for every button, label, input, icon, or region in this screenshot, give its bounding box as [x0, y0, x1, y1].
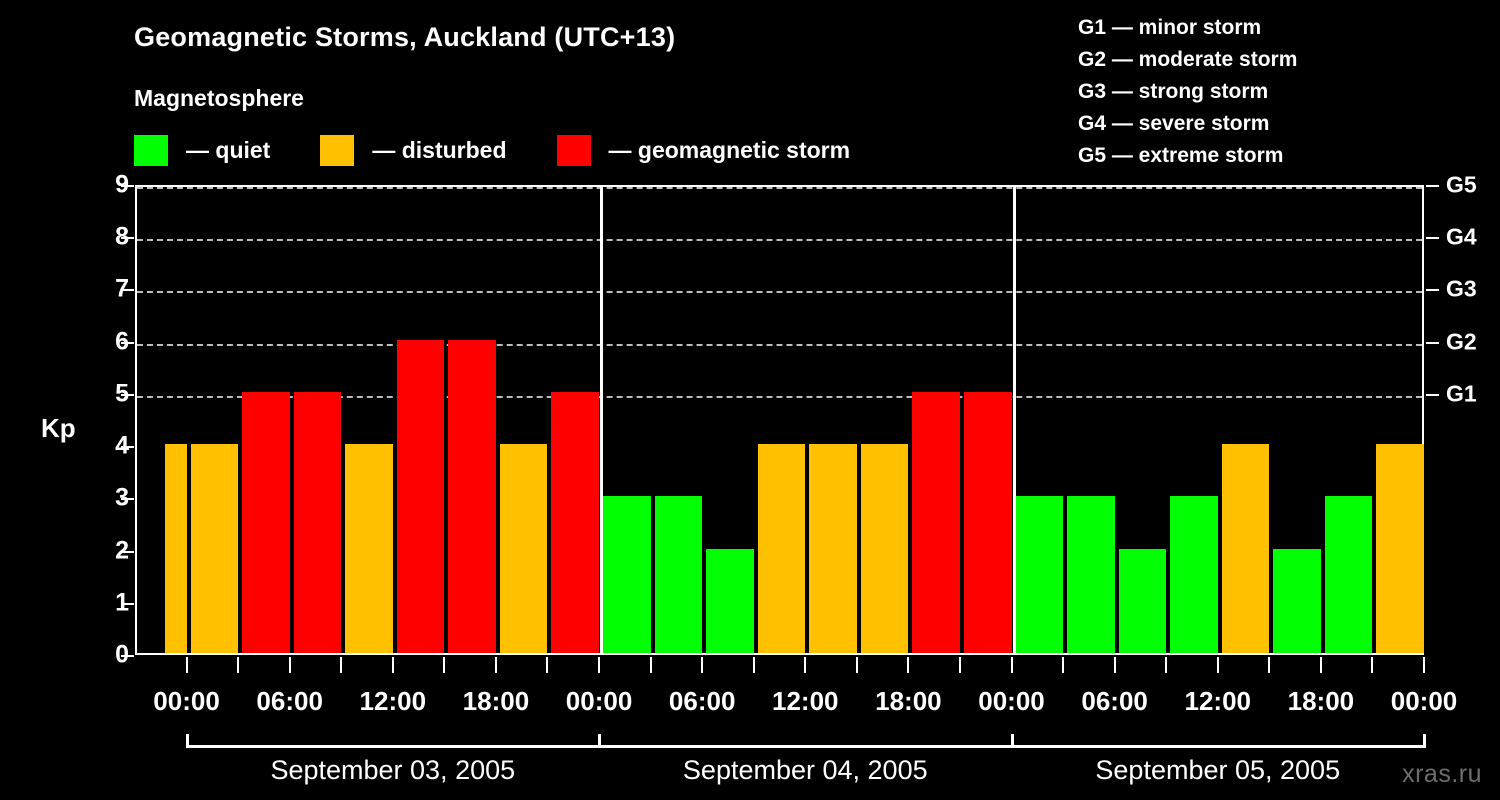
- x-axis-tick: [907, 657, 909, 673]
- x-axis-tick: [1268, 657, 1270, 673]
- x-axis-tick-label: 18:00: [463, 686, 530, 717]
- day-bracket-cap: [186, 734, 189, 748]
- g-scale-row: G5 — extreme storm: [1078, 140, 1297, 172]
- y-axis-tick-label: 9: [89, 171, 129, 200]
- day-bracket: [187, 745, 599, 748]
- bar: [861, 444, 909, 653]
- day-label: September 04, 2005: [683, 755, 928, 786]
- x-axis-tick: [392, 657, 394, 673]
- x-axis-tick: [1062, 657, 1064, 673]
- x-axis-tick: [650, 657, 652, 673]
- x-axis-tick-label: 06:00: [669, 686, 736, 717]
- g-scale-row: G1 — minor storm: [1078, 12, 1297, 44]
- x-axis-tick: [804, 657, 806, 673]
- x-axis-tick-label: 00:00: [153, 686, 220, 717]
- x-axis-tick: [1011, 657, 1013, 673]
- y-axis-tick-label: 5: [89, 379, 129, 408]
- y-axis-tick-label: 6: [89, 327, 129, 356]
- x-axis-tick: [753, 657, 755, 673]
- y-axis-tick-label: 3: [89, 484, 129, 513]
- bar: [345, 444, 393, 653]
- x-axis-tick: [1165, 657, 1167, 673]
- x-axis-tick-label: 06:00: [1081, 686, 1148, 717]
- x-axis-tick-label: 18:00: [875, 686, 942, 717]
- storm-swatch: [557, 135, 591, 166]
- bar: [809, 444, 857, 653]
- g-axis-tick: [1426, 342, 1439, 344]
- bar: [1376, 444, 1424, 653]
- x-axis-tick: [1371, 657, 1373, 673]
- day-bracket-cap: [1011, 734, 1014, 748]
- day-bracket: [599, 745, 1011, 748]
- y-axis-tick-label: 4: [89, 432, 129, 461]
- y-axis-tick-label: 1: [89, 588, 129, 617]
- page-title: Geomagnetic Storms, Auckland (UTC+13): [134, 22, 675, 53]
- x-axis-tick: [598, 657, 600, 673]
- plot-area: [135, 185, 1424, 655]
- x-axis-tick: [1114, 657, 1116, 673]
- x-axis-tick: [1217, 657, 1219, 673]
- day-bracket-cap: [1423, 734, 1426, 748]
- x-axis-tick: [546, 657, 548, 673]
- bar: [551, 392, 599, 653]
- g-scale-legend: G1 — minor stormG2 — moderate stormG3 — …: [1078, 12, 1297, 172]
- bar: [1170, 496, 1218, 653]
- legend-item: — quiet: [134, 135, 270, 166]
- day-label: September 05, 2005: [1095, 755, 1340, 786]
- g-scale-row: G3 — strong storm: [1078, 76, 1297, 108]
- bar: [1325, 496, 1373, 653]
- magnetosphere-label: Magnetosphere: [134, 85, 304, 112]
- bar: [1222, 444, 1270, 653]
- x-axis-tick: [701, 657, 703, 673]
- bar: [1016, 496, 1064, 653]
- x-axis-tick: [1320, 657, 1322, 673]
- x-axis-tick: [237, 657, 239, 673]
- x-axis-tick: [959, 657, 961, 673]
- bar-series: [137, 187, 1422, 653]
- g-axis-tick: [1426, 185, 1439, 187]
- bar: [912, 392, 960, 653]
- x-axis-tick-label: 00:00: [566, 686, 633, 717]
- g-axis-tick-label: G5: [1446, 172, 1477, 199]
- x-axis-tick-label: 00:00: [978, 686, 1045, 717]
- bar: [397, 340, 445, 653]
- bar: [655, 496, 703, 653]
- bar: [964, 392, 1012, 653]
- x-axis-tick-label: 12:00: [1185, 686, 1252, 717]
- day-bracket-cap: [598, 734, 601, 748]
- y-axis-tick-label: 7: [89, 275, 129, 304]
- watermark: xras.ru: [1402, 760, 1482, 789]
- x-axis-tick: [1423, 657, 1425, 673]
- x-axis-tick-label: 06:00: [256, 686, 323, 717]
- bar: [165, 444, 187, 653]
- y-axis-title: Kp: [41, 413, 76, 444]
- bar: [758, 444, 806, 653]
- bar: [191, 444, 239, 653]
- y-axis-tick-label: 2: [89, 536, 129, 565]
- g-scale-row: G2 — moderate storm: [1078, 44, 1297, 76]
- day-label: September 03, 2005: [270, 755, 515, 786]
- bar: [294, 392, 342, 653]
- legend-item-label: — quiet: [186, 137, 270, 164]
- bar: [1067, 496, 1115, 653]
- legend: — quiet— disturbed— geomagnetic storm: [134, 134, 850, 166]
- bar: [448, 340, 496, 653]
- x-axis-tick-label: 12:00: [772, 686, 839, 717]
- bar: [1273, 549, 1321, 653]
- x-axis-tick-label: 00:00: [1391, 686, 1458, 717]
- g-axis-tick-label: G2: [1446, 328, 1477, 355]
- legend-item-label: — disturbed: [372, 137, 506, 164]
- legend-item: — disturbed: [320, 135, 506, 166]
- quiet-swatch: [134, 135, 168, 166]
- bar: [242, 392, 290, 653]
- x-axis-tick: [289, 657, 291, 673]
- g-axis-tick: [1426, 394, 1439, 396]
- g-axis-tick-label: G4: [1446, 224, 1477, 251]
- day-bracket: [1012, 745, 1424, 748]
- bar: [1119, 549, 1167, 653]
- x-axis-tick: [495, 657, 497, 673]
- g-axis-tick: [1426, 289, 1439, 291]
- x-axis-tick: [186, 657, 188, 673]
- x-axis-tick-label: 12:00: [360, 686, 427, 717]
- g-axis-tick-label: G1: [1446, 380, 1477, 407]
- g-scale-row: G4 — severe storm: [1078, 108, 1297, 140]
- bar: [706, 549, 754, 653]
- y-axis-tick-label: 0: [89, 641, 129, 670]
- legend-item-label: — geomagnetic storm: [609, 137, 851, 164]
- y-axis-tick-label: 8: [89, 223, 129, 252]
- x-axis-tick-label: 18:00: [1288, 686, 1355, 717]
- bar: [500, 444, 548, 653]
- x-axis-tick: [443, 657, 445, 673]
- x-axis-tick: [856, 657, 858, 673]
- bar: [603, 496, 651, 653]
- g-axis-tick-label: G3: [1446, 276, 1477, 303]
- disturbed-swatch: [320, 135, 354, 166]
- legend-item: — geomagnetic storm: [557, 135, 851, 166]
- g-axis-tick: [1426, 237, 1439, 239]
- x-axis-tick: [340, 657, 342, 673]
